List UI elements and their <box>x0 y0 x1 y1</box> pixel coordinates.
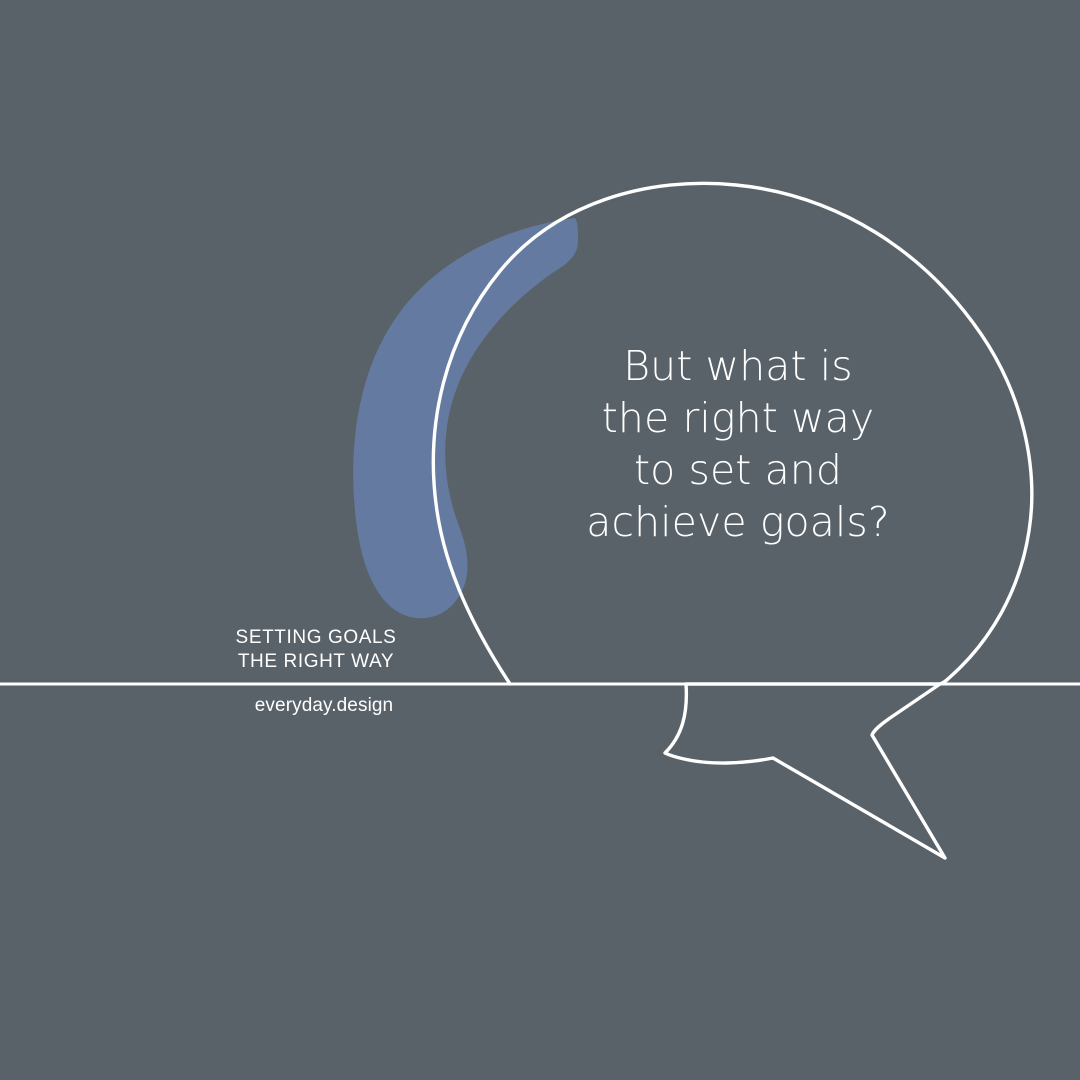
brand-handle: everyday.design <box>204 694 444 718</box>
poster-canvas: But what is the right way to set and ach… <box>0 0 1080 1080</box>
quote-line-3: to set and <box>560 444 916 496</box>
background-fill <box>0 0 1080 1080</box>
quote-line-4: achieve goals? <box>560 496 916 548</box>
poster-artwork <box>0 0 1080 1080</box>
quote-line-2: the right way <box>560 392 916 444</box>
brand-title-line-2: THE RIGHT WAY <box>196 650 436 674</box>
brand-title: SETTING GOALS THE RIGHT WAY <box>196 626 436 674</box>
quote-text: But what is the right way to set and ach… <box>560 340 916 548</box>
quote-line-1: But what is <box>560 340 916 392</box>
brand-title-line-1: SETTING GOALS <box>196 626 436 650</box>
